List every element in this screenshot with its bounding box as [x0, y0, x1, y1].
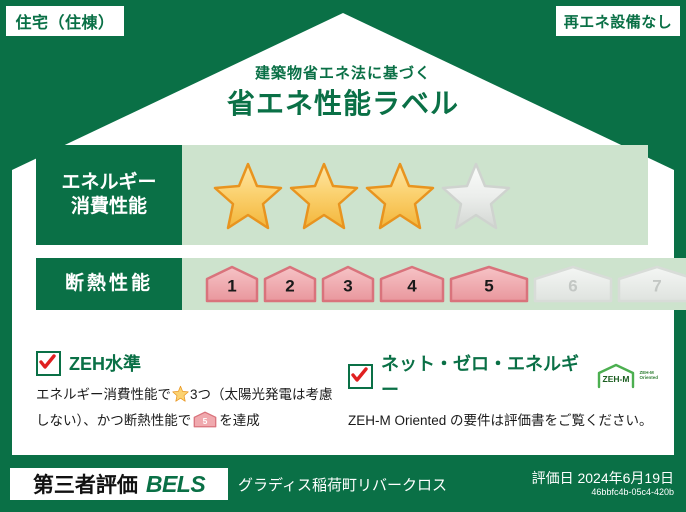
net-zero-energy-block: ネット・ゼロ・エネルギー ZEH-M ZEH-M Oriented ZEH-M … [348, 350, 658, 433]
insulation-level-5-value: 5 [448, 276, 530, 296]
building-name: グラディス稲荷町リバークロス [238, 474, 447, 495]
insulation-performance-body: 1 2 3 4 [182, 258, 686, 310]
energy-performance-label-line1: エネルギー [61, 171, 156, 195]
tag-building-type-label: 住宅（住棟） [15, 9, 114, 33]
star-icon-empty [440, 160, 512, 230]
star-icon-inline [172, 385, 189, 410]
bels-badge: 第三者評価 BELS [10, 468, 228, 500]
insulation-level-3: 3 [320, 262, 376, 306]
zeh-m-house-icon: ZEH-M [595, 363, 637, 389]
insulation-level-scale: 1 2 3 4 [182, 262, 686, 306]
insulation-level-4: 4 [378, 262, 446, 306]
bels-badge-en: BELS [146, 471, 205, 498]
footer: 第三者評価 BELS グラディス稲荷町リバークロス 評価日 2024年6月19日… [0, 462, 686, 512]
insulation-performance-label-text: 断熱性能 [65, 272, 153, 296]
insulation-performance-label: 断熱性能 [36, 258, 182, 310]
evaluation-date: 評価日 2024年6月19日 [532, 468, 674, 488]
zeh-m-logo-sub: ZEH-M Oriented [639, 371, 658, 380]
tag-renewable-energy: 再エネ設備なし [556, 6, 680, 36]
insulation-level-7-value: 7 [616, 276, 686, 296]
insulation-level-3-value: 3 [320, 276, 376, 296]
evaluation-id: 46bbfc4b-05c4-420b [591, 487, 674, 497]
svg-text:ZEH-M: ZEH-M [603, 374, 630, 384]
label-subtitle: 建築物省エネ法に基づく [0, 62, 686, 83]
insulation-level-6-value: 6 [532, 276, 614, 296]
insulation-level-inline-icon: 5 [193, 410, 217, 437]
insulation-level-2: 2 [262, 262, 318, 306]
star-rating [182, 160, 512, 230]
zeh-standard-title: ZEH水準 [69, 350, 141, 376]
star-icon-filled [212, 160, 284, 230]
insulation-performance-row: 断熱性能 1 [36, 258, 648, 310]
label-title: 省エネ性能ラベル [0, 82, 686, 122]
energy-performance-label: エネルギー 消費性能 [36, 145, 182, 245]
tag-building-type: 住宅（住棟） [6, 6, 124, 36]
insulation-level-1-value: 1 [204, 276, 260, 296]
net-zero-energy-header: ネット・ゼロ・エネルギー ZEH-M ZEH-M Oriented [348, 350, 658, 402]
energy-performance-label-line2: 消費性能 [71, 195, 147, 219]
insulation-level-4-value: 4 [378, 276, 446, 296]
tag-renewable-energy-label: 再エネ設備なし [564, 11, 673, 32]
insulation-level-5: 5 [448, 262, 530, 306]
net-zero-energy-title: ネット・ゼロ・エネルギー [381, 350, 581, 402]
star-icon-filled [288, 160, 360, 230]
zeh-standard-block: ZEH水準 エネルギー消費性能で3つ（太陽光発電は考慮しない）、かつ断熱性能で5… [36, 350, 336, 437]
zeh-standard-description: エネルギー消費性能で3つ（太陽光発電は考慮しない）、かつ断熱性能で5を達成 [36, 384, 336, 437]
zeh-m-logo: ZEH-M ZEH-M Oriented [595, 363, 658, 389]
insulation-level-6: 6 [532, 262, 614, 306]
checkbox-checked-icon[interactable] [348, 364, 373, 389]
net-zero-energy-description: ZEH-M Oriented の要件は評価書をご覧ください。 [348, 410, 658, 433]
star-icon-filled [364, 160, 436, 230]
insulation-level-2-value: 2 [262, 276, 318, 296]
bels-energy-label: 住宅（住棟） 再エネ設備なし 建築物省エネ法に基づく 省エネ性能ラベル エネルギ… [0, 0, 686, 512]
energy-performance-row: エネルギー 消費性能 [36, 145, 648, 245]
checkbox-checked-icon[interactable] [36, 351, 61, 376]
zeh-standard-text-part3: を達成 [219, 413, 260, 428]
bels-badge-jp: 第三者評価 [33, 469, 138, 499]
zeh-standard-header: ZEH水準 [36, 350, 336, 376]
svg-text:5: 5 [203, 416, 208, 426]
insulation-level-7: 7 [616, 262, 686, 306]
energy-performance-body [182, 145, 648, 245]
zeh-m-logo-sub-line2: Oriented [639, 375, 658, 380]
zeh-standard-text-part1: エネルギー消費性能で [36, 387, 171, 402]
insulation-level-1: 1 [204, 262, 260, 306]
